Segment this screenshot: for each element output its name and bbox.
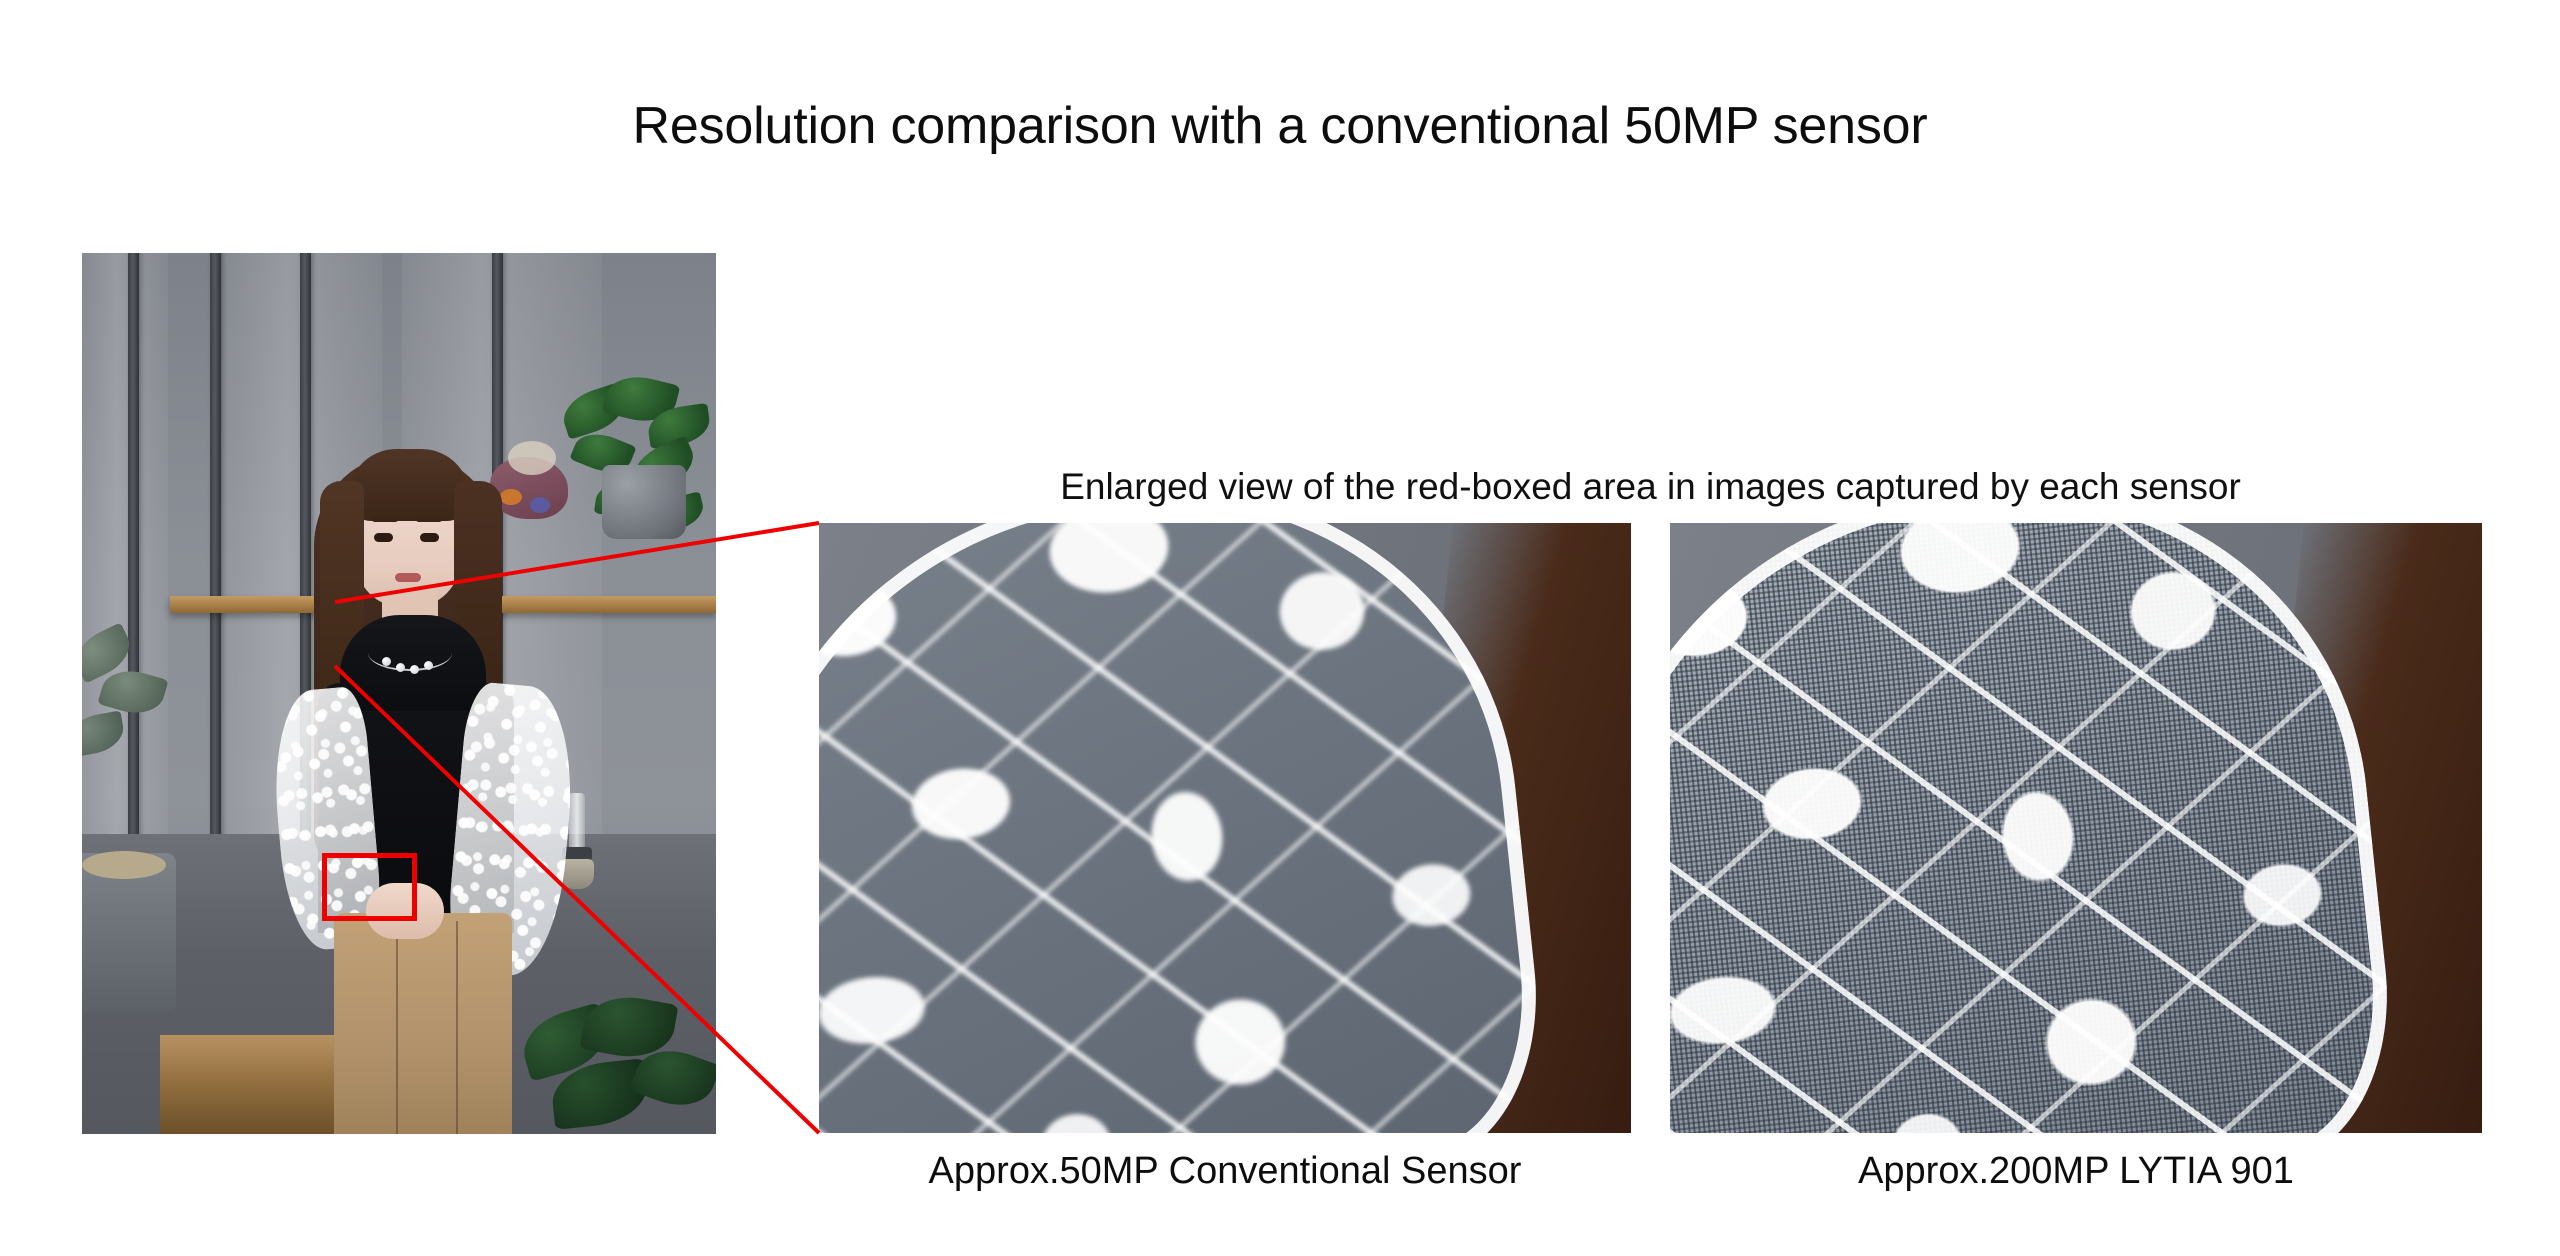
shelf-post xyxy=(128,253,139,891)
mouth xyxy=(395,573,421,582)
trousers xyxy=(334,913,512,1134)
sleeve-edge-highlight xyxy=(1670,523,2404,1133)
plant-left xyxy=(82,623,178,793)
panel-caption-lytia901: Approx.200MP LYTIA 901 xyxy=(1670,1150,2482,1193)
panel-caption-conventional: Approx.50MP Conventional Sensor xyxy=(819,1150,1631,1193)
enlarged-panel-lytia901 xyxy=(1670,523,2482,1133)
enlarged-panel-conventional xyxy=(819,523,1631,1133)
page-title: Resolution comparison with a conventiona… xyxy=(0,96,2560,156)
eye xyxy=(374,533,393,542)
planter-gravel xyxy=(82,851,166,879)
region-of-interest-box[interactable] xyxy=(322,853,417,921)
necklace xyxy=(368,635,452,671)
sleeve-edge-highlight xyxy=(819,523,1553,1133)
eyebrow xyxy=(372,517,398,522)
shelf-post xyxy=(210,253,221,891)
plant-foreground xyxy=(512,993,716,1134)
person-fringe xyxy=(348,449,470,521)
enlarged-view-caption: Enlarged view of the red-boxed area in i… xyxy=(819,466,2482,508)
eyebrow xyxy=(416,517,442,522)
plant-pot xyxy=(602,465,686,539)
source-photo xyxy=(82,253,716,1134)
eye xyxy=(420,533,439,542)
